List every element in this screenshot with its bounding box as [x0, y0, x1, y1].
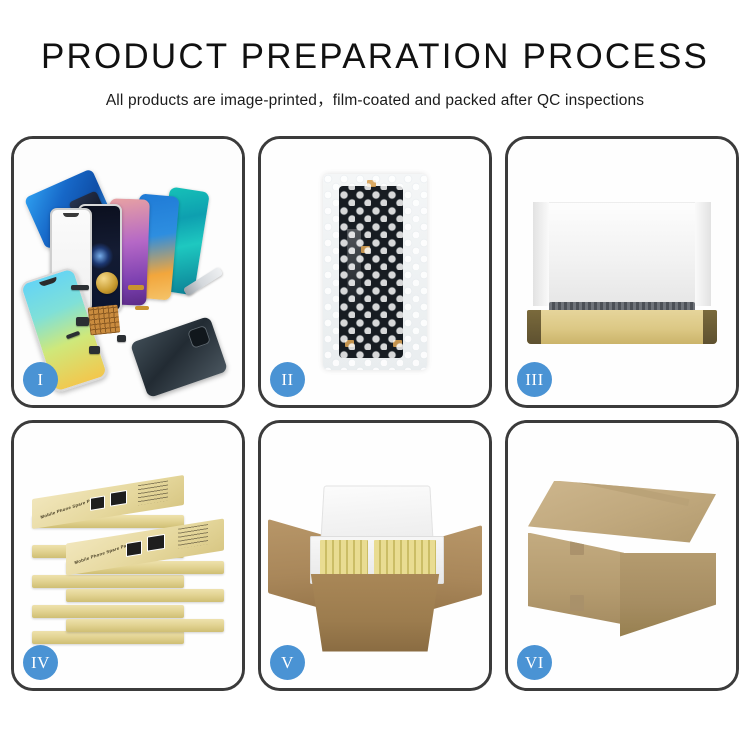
speaker-coil-part — [96, 272, 118, 294]
sealed-shipping-carton — [528, 481, 716, 641]
process-step-3[interactable]: III — [505, 136, 739, 408]
open-kraft-box — [527, 202, 717, 352]
carton-tape-seam — [574, 475, 689, 506]
flex-cable-a — [128, 285, 144, 290]
box-label-front: Mobile Phone Spare Parts — [74, 541, 133, 565]
flex-cable-b — [135, 306, 149, 310]
kraft-box-base — [527, 310, 717, 344]
carton-tab-lower — [570, 595, 584, 611]
stack-layer-7 — [66, 589, 224, 602]
box-window-left-front — [126, 540, 142, 557]
process-step-grid: I II — [11, 136, 739, 691]
process-step-5[interactable]: V — [258, 420, 492, 692]
box-window-right-front — [147, 533, 165, 551]
connector-part — [71, 285, 89, 290]
bubble-texture — [323, 174, 427, 370]
white-foam-lid — [533, 202, 711, 306]
process-step-4[interactable]: Mobile Phone Spare Parts Mobile Phone Sp… — [11, 420, 245, 692]
stack-layer-4 — [32, 605, 184, 618]
carton-top-face — [528, 481, 716, 543]
carton-tab-upper — [570, 539, 584, 555]
process-step-1[interactable]: I — [11, 136, 245, 408]
button-part — [117, 335, 126, 342]
carton-front-face — [528, 533, 624, 625]
product-preparation-page: PRODUCT PREPARATION PROCESS All products… — [0, 0, 750, 750]
box-spec-lines-front — [178, 524, 208, 549]
bubble-wrap-bag — [323, 174, 427, 370]
box-window-right-back — [110, 490, 127, 507]
stack-layer-8 — [66, 619, 224, 632]
process-step-6[interactable]: VI — [505, 420, 739, 692]
copper-mesh-part — [88, 305, 121, 336]
step-badge-6: VI — [517, 645, 552, 680]
step-badge-2: II — [270, 362, 305, 397]
process-step-2[interactable]: II — [258, 136, 492, 408]
stack-layer-5 — [32, 631, 184, 644]
open-shipping-carton — [280, 484, 470, 654]
carton-side-face — [620, 553, 716, 637]
box-window-left-back — [90, 495, 105, 510]
step-badge-5: V — [270, 645, 305, 680]
stacked-retail-boxes: Mobile Phone Spare Parts Mobile Phone Sp… — [28, 473, 228, 649]
camera-part — [76, 317, 89, 326]
page-header: PRODUCT PREPARATION PROCESS All products… — [0, 0, 750, 110]
page-subtitle: All products are image-printed，film-coat… — [0, 88, 750, 110]
vibrator-part — [89, 346, 100, 354]
page-title: PRODUCT PREPARATION PROCESS — [0, 38, 750, 77]
carton-body — [302, 574, 448, 652]
step-badge-4: IV — [23, 645, 58, 680]
stack-layer-3 — [32, 575, 184, 588]
step-badge-3: III — [517, 362, 552, 397]
box-spec-lines-back — [138, 480, 168, 505]
step-badge-1: I — [23, 362, 58, 397]
